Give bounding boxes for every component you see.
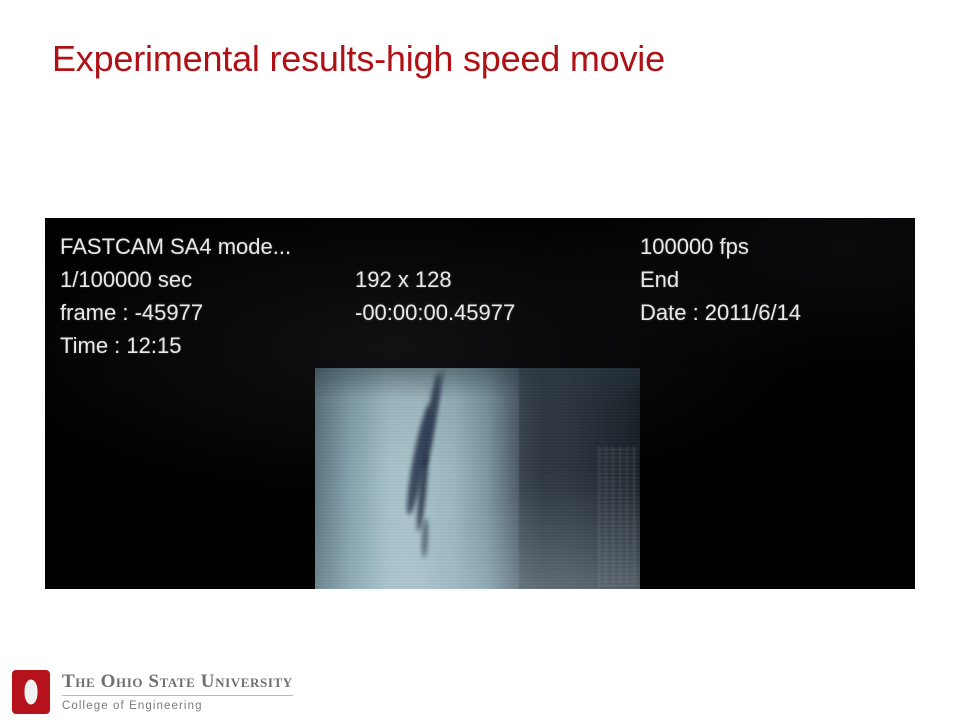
page-title: Experimental results-high speed movie (52, 38, 665, 79)
hud-resolution: 192 x 128 (355, 263, 452, 296)
hud-row: 1/100000 sec 192 x 128 End (60, 263, 905, 296)
hud-frame-rate: 100000 fps (640, 230, 749, 263)
hud-timecode: -00:00:00.45977 (355, 296, 515, 329)
university-name: The Ohio State University (62, 672, 293, 696)
hud-time: Time : 12:15 (60, 329, 181, 362)
hud-trigger-mode: End (640, 263, 679, 296)
hud-date: Date : 2011/6/14 (640, 296, 801, 329)
hud-shutter-speed: 1/100000 sec (60, 263, 192, 296)
hud-camera-mode: FASTCAM SA4 mode... (60, 230, 291, 263)
hud-frame-number: frame : -45977 (60, 296, 203, 329)
camera-vertical-shading (315, 368, 640, 589)
osu-wordmark: The Ohio State University College of Eng… (62, 672, 293, 712)
osu-block-o-counter (25, 680, 38, 705)
high-speed-video-panel: FASTCAM SA4 mode... 100000 fps 1/100000 … (45, 218, 915, 589)
camera-hud-overlay: FASTCAM SA4 mode... 100000 fps 1/100000 … (60, 230, 905, 370)
hud-row: Time : 12:15 (60, 329, 905, 362)
college-name: College of Engineering (62, 696, 293, 712)
hud-row: FASTCAM SA4 mode... 100000 fps (60, 230, 905, 263)
presentation-slide: Experimental results-high speed movie FA… (0, 0, 960, 720)
hud-row: frame : -45977 -00:00:00.45977 Date : 20… (60, 296, 905, 329)
osu-logo: The Ohio State University College of Eng… (12, 668, 293, 716)
high-speed-camera-frame (315, 368, 640, 589)
osu-block-o-icon (12, 670, 50, 714)
